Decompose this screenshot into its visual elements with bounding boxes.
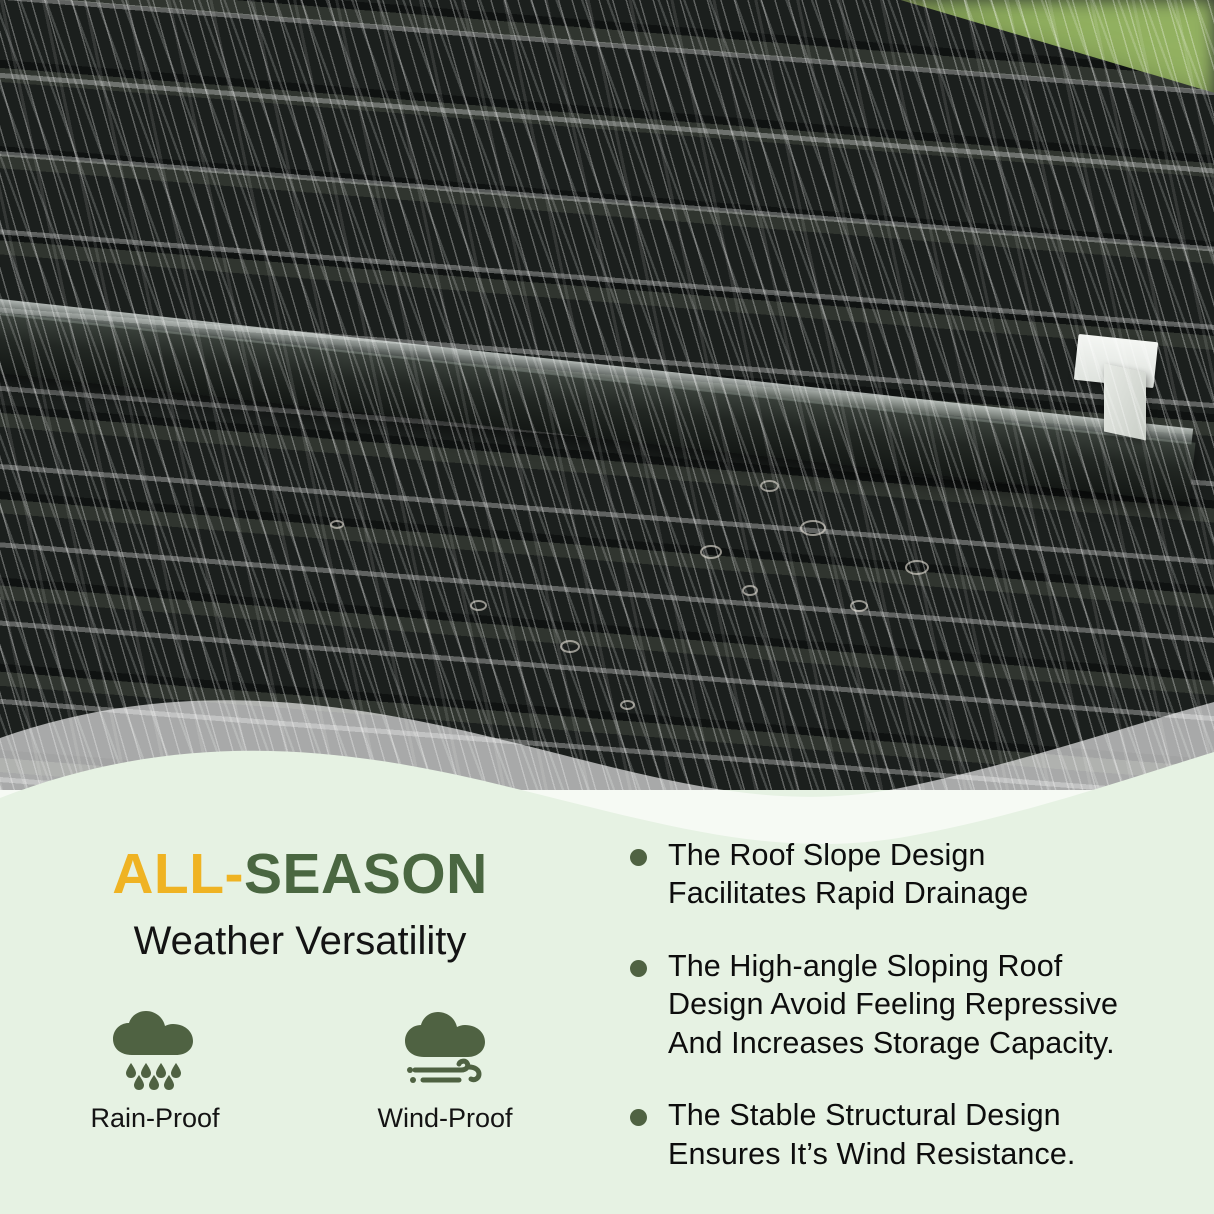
water-droplet	[800, 520, 826, 536]
headline-green-part: SEASON	[244, 842, 488, 906]
content-panel: ALL-SEASON Weather Versatility	[0, 820, 1214, 1214]
feature-icon-row: Rain-Proof	[0, 1009, 600, 1134]
bullet-line: Facilitates Rapid Drainage	[668, 874, 1028, 912]
bullet-line: The High-angle Sloping Roof	[668, 947, 1118, 985]
feature-label: Rain-Proof	[65, 1103, 245, 1134]
bullet-text: The High-angle Sloping Roof Design Avoid…	[668, 947, 1118, 1062]
benefits-list: The Roof Slope Design Facilitates Rapid …	[612, 836, 1208, 1207]
bullet-dot-icon	[630, 1109, 647, 1126]
water-droplet	[470, 600, 487, 611]
feature-rain-proof: Rain-Proof	[65, 1009, 245, 1134]
bullet-dot-icon	[630, 849, 647, 866]
water-droplet	[700, 545, 722, 559]
feature-wind-proof: Wind-Proof	[355, 1009, 535, 1134]
water-droplet	[742, 585, 758, 596]
rain-cloud-icon	[65, 1009, 245, 1091]
list-item: The High-angle Sloping Roof Design Avoid…	[612, 947, 1208, 1062]
marketing-banner: ALL-SEASON Weather Versatility	[0, 0, 1214, 1214]
bullet-line: The Roof Slope Design	[668, 836, 1028, 874]
feature-label: Wind-Proof	[355, 1103, 535, 1134]
bullet-line: Design Avoid Feeling Repressive	[668, 985, 1118, 1023]
water-droplet	[850, 600, 868, 612]
bullet-line: And Increases Storage Capacity.	[668, 1024, 1118, 1062]
headline-gold-part: ALL-	[112, 842, 244, 906]
left-column: ALL-SEASON Weather Versatility	[0, 845, 600, 1134]
bullet-line: Ensures It’s Wind Resistance.	[668, 1135, 1075, 1173]
water-droplet	[760, 480, 779, 492]
page-subtitle: Weather Versatility	[0, 919, 600, 963]
bullet-line: The Stable Structural Design	[668, 1096, 1075, 1134]
page-title: ALL-SEASON	[0, 845, 600, 905]
bullet-text: The Roof Slope Design Facilitates Rapid …	[668, 836, 1028, 913]
bullet-text: The Stable Structural Design Ensures It’…	[668, 1096, 1075, 1173]
wind-cloud-icon	[355, 1009, 535, 1091]
list-item: The Roof Slope Design Facilitates Rapid …	[612, 836, 1208, 913]
list-item: The Stable Structural Design Ensures It’…	[612, 1096, 1208, 1173]
water-droplet	[330, 520, 344, 529]
water-droplet	[905, 560, 929, 575]
bullet-dot-icon	[630, 960, 647, 977]
